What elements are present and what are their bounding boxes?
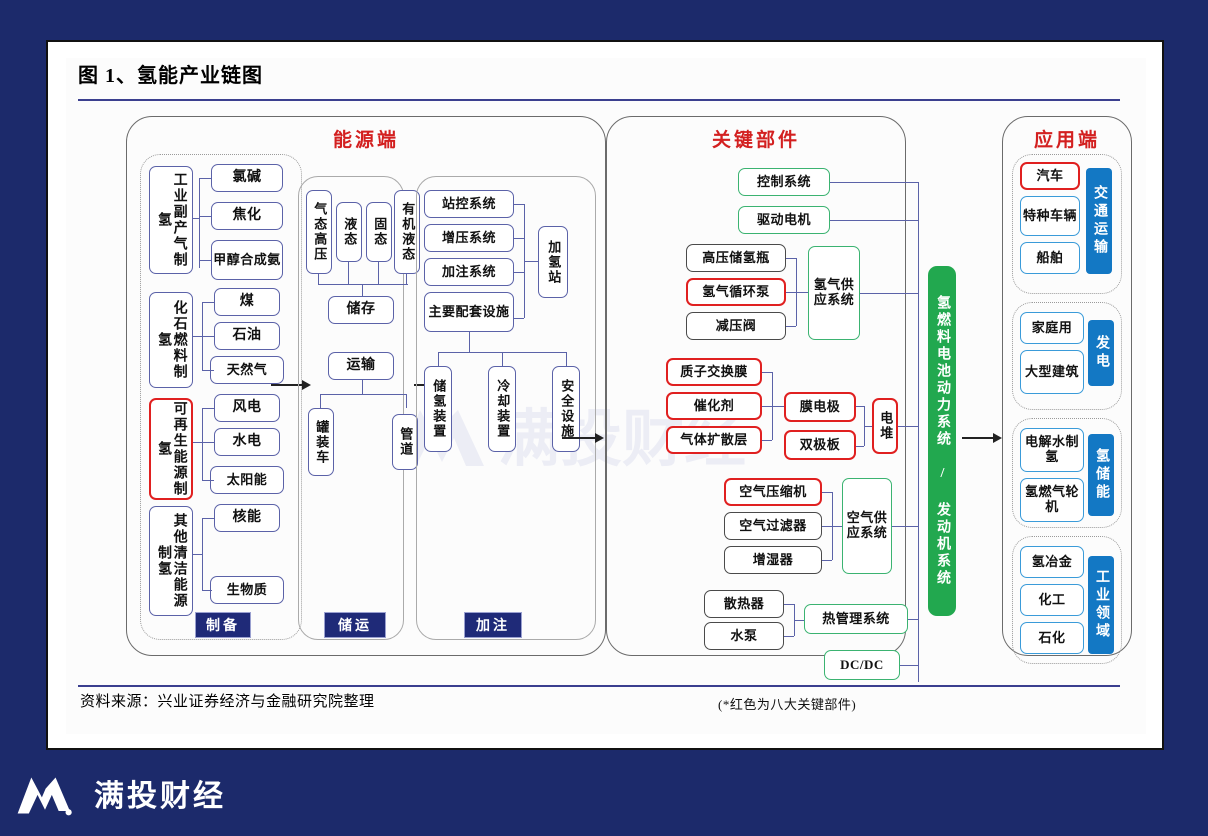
node-catalyst[interactable]: 催化剂 (666, 392, 762, 420)
node-chemical-industry[interactable]: 化工 (1020, 584, 1084, 616)
connector (199, 260, 211, 261)
node-ship[interactable]: 船舶 (1020, 242, 1080, 274)
connector (199, 216, 211, 217)
node-petroleum[interactable]: 石油 (214, 322, 280, 350)
connector (892, 526, 918, 527)
tag-refuel: 加注 (464, 612, 522, 638)
connector (202, 442, 214, 443)
node-gas-high-pressure[interactable]: 气态高压 (306, 190, 332, 274)
node-high-pressure-hydrogen-cylinder[interactable]: 高压储氢瓶 (686, 244, 786, 272)
node-household-use[interactable]: 家庭用 (1020, 312, 1084, 344)
node-hydro-power[interactable]: 水电 (214, 428, 280, 456)
node-gas-diffusion-layer[interactable]: 气体扩散层 (666, 426, 762, 454)
panel-components: 关键部件 (606, 116, 906, 656)
connector (193, 218, 199, 219)
node-wind-power[interactable]: 风电 (214, 394, 280, 422)
node-liquid-state[interactable]: 液态 (336, 202, 362, 262)
tag-hydrogen-storage: 氢储能 (1088, 434, 1114, 516)
tag-transport: 交通运输 (1086, 168, 1112, 274)
node-solid-state[interactable]: 固态 (366, 202, 392, 262)
node-pipeline[interactable]: 管道 (392, 414, 418, 470)
connector (900, 665, 918, 666)
node-transport[interactable]: 运输 (328, 352, 394, 380)
connector (469, 332, 470, 352)
panel-application-title: 应用端 (1003, 125, 1131, 152)
brand-name: 满投财经 (94, 771, 226, 815)
connector (762, 406, 772, 407)
figure-card: 图 1、氢能产业链图 满投财经 能源端 工业副产气制氢 氯碱 焦化 甲醇合成氨 (46, 40, 1164, 750)
connector (193, 554, 202, 555)
panel-energy-title: 能源端 (127, 125, 605, 152)
connector (318, 274, 319, 284)
source-divider (78, 685, 1120, 687)
connector (830, 182, 918, 183)
node-solar-power[interactable]: 太阳能 (210, 466, 284, 494)
node-nuclear[interactable]: 核能 (214, 504, 280, 532)
node-petrochemical[interactable]: 石化 (1020, 622, 1084, 654)
node-water-electrolysis-hydrogen[interactable]: 电解水制氢 (1020, 428, 1084, 472)
source-text: 资料来源：兴业证券经济与金融研究院整理 (80, 690, 375, 711)
node-air-filter[interactable]: 空气过滤器 (724, 512, 822, 540)
node-hydrogen-metallurgy[interactable]: 氢冶金 (1020, 546, 1084, 578)
node-hydrogen-refueling-station[interactable]: 加氢站 (538, 226, 568, 298)
node-dcdc[interactable]: DC/DC (824, 650, 900, 680)
tag-industry: 工业领域 (1088, 556, 1114, 654)
node-biomass[interactable]: 生物质 (210, 576, 284, 604)
connector (860, 293, 918, 294)
node-special-vehicle[interactable]: 特种车辆 (1020, 196, 1080, 236)
connector (762, 372, 772, 373)
tag-storage-transport: 储运 (324, 612, 386, 638)
node-large-building[interactable]: 大型建筑 (1020, 350, 1084, 394)
connector (832, 526, 842, 527)
connector (348, 262, 349, 284)
brand-bar: 满投财经 (0, 750, 1208, 836)
node-automobile[interactable]: 汽车 (1020, 162, 1080, 190)
connector (406, 274, 407, 284)
panel-components-title: 关键部件 (607, 125, 905, 152)
title-divider (78, 99, 1120, 101)
connector (202, 408, 214, 409)
node-renewable-hydrogen[interactable]: 可再生能源制氢 (149, 398, 193, 500)
connector (830, 220, 918, 221)
tag-power-generation: 发电 (1088, 320, 1114, 386)
connector (514, 318, 524, 319)
connector (202, 518, 214, 519)
node-fossil-fuel[interactable]: 化石燃料制氢 (149, 292, 193, 388)
diagram-stage: 能源端 工业副产气制氢 氯碱 焦化 甲醇合成氨 化石燃料制氢 煤 石油 天然气 (66, 106, 1146, 684)
figure-title-row: 图 1、氢能产业链图 (78, 62, 1134, 90)
connector (514, 238, 524, 239)
connector (406, 394, 407, 408)
connector (514, 204, 524, 205)
connector (786, 326, 796, 327)
connector (193, 336, 202, 337)
arrow-components-to-application (962, 431, 1002, 445)
node-chlor-alkali[interactable]: 氯碱 (211, 164, 283, 192)
connector (362, 284, 363, 296)
page-title: 图 1、氢能产业链图 (78, 62, 1134, 90)
connector (202, 590, 212, 591)
node-methanol-ammonia[interactable]: 甲醇合成氨 (211, 240, 283, 280)
node-air-compressor[interactable]: 空气压缩机 (724, 478, 822, 506)
node-hydrogen-gas-turbine[interactable]: 氢燃气轮机 (1020, 478, 1084, 522)
connector (502, 352, 503, 366)
connector (202, 370, 214, 371)
node-pressure-reducing-valve[interactable]: 减压阀 (686, 312, 786, 340)
connector (202, 336, 214, 337)
connector (202, 480, 214, 481)
connector (822, 526, 832, 527)
mm-logo-icon (14, 770, 76, 816)
node-thermal-management-system[interactable]: 热管理系统 (804, 604, 908, 634)
connector (362, 380, 363, 394)
arrow-energy-to-components (562, 431, 604, 445)
node-main-supporting-facilities[interactable]: 主要配套设施 (424, 292, 514, 332)
connector (786, 292, 796, 293)
connector (908, 619, 918, 620)
connector (784, 604, 794, 605)
connector (786, 258, 796, 259)
node-hydrogen-storage-device[interactable]: 储氢装置 (424, 366, 452, 452)
node-station-control-system[interactable]: 站控系统 (424, 190, 514, 218)
figure-inner: 图 1、氢能产业链图 满投财经 能源端 工业副产气制氢 氯碱 焦化 甲醇合成氨 (66, 58, 1146, 734)
tag-production: 制备 (195, 612, 251, 638)
node-stack[interactable]: 电堆 (872, 398, 898, 454)
node-coal[interactable]: 煤 (214, 288, 280, 316)
connector (796, 292, 808, 293)
node-tanker-truck[interactable]: 罐装车 (308, 408, 334, 476)
node-radiator[interactable]: 散热器 (704, 590, 784, 618)
node-pressurization-system[interactable]: 增压系统 (424, 224, 514, 252)
node-coking[interactable]: 焦化 (211, 202, 283, 230)
connector (822, 492, 832, 493)
node-other-clean-energy[interactable]: 其他清洁能源制氢 (149, 506, 193, 616)
connector (199, 178, 200, 268)
connector (822, 560, 832, 561)
connector (762, 440, 772, 441)
connector (772, 406, 784, 407)
node-cooling-device[interactable]: 冷却装置 (488, 366, 516, 452)
connector (918, 182, 919, 682)
connector (378, 262, 379, 284)
node-water-pump[interactable]: 水泵 (704, 622, 784, 650)
connector (514, 272, 524, 273)
connector (524, 261, 538, 262)
connector (320, 394, 321, 408)
node-bipolar-plate[interactable]: 双极板 (784, 430, 856, 460)
node-proton-exchange-membrane[interactable]: 质子交换膜 (666, 358, 762, 386)
node-hydrogen-supply-system[interactable]: 氢气供应系统 (808, 246, 860, 340)
connector (320, 394, 406, 395)
node-hydrogen-circulation-pump[interactable]: 氢气循环泵 (686, 278, 786, 306)
connector (864, 426, 872, 427)
node-industrial-byproduct[interactable]: 工业副产气制氢 (149, 166, 193, 274)
node-control-system[interactable]: 控制系统 (738, 168, 830, 196)
connector (856, 446, 864, 447)
node-air-supply-system[interactable]: 空气供应系统 (842, 478, 892, 574)
connector (193, 442, 202, 443)
connector (794, 620, 804, 621)
node-humidifier[interactable]: 增湿器 (724, 546, 822, 574)
connector (784, 636, 794, 637)
node-storage[interactable]: 储存 (328, 296, 394, 324)
connector (199, 178, 211, 179)
tag-fuel-cell-power-system: 氢燃料电池动力系统 / 发动机系统 (928, 266, 956, 616)
key-components-note: (*红色为八大关键部件) (718, 694, 856, 713)
node-drive-motor[interactable]: 驱动电机 (738, 206, 830, 234)
node-membrane-electrode[interactable]: 膜电极 (784, 392, 856, 422)
node-refueling-system[interactable]: 加注系统 (424, 258, 514, 286)
connector (438, 352, 439, 366)
connector (566, 352, 567, 366)
connector (202, 518, 203, 590)
connector (898, 426, 918, 427)
connector (202, 302, 214, 303)
connector (202, 408, 203, 480)
connector (856, 406, 864, 407)
